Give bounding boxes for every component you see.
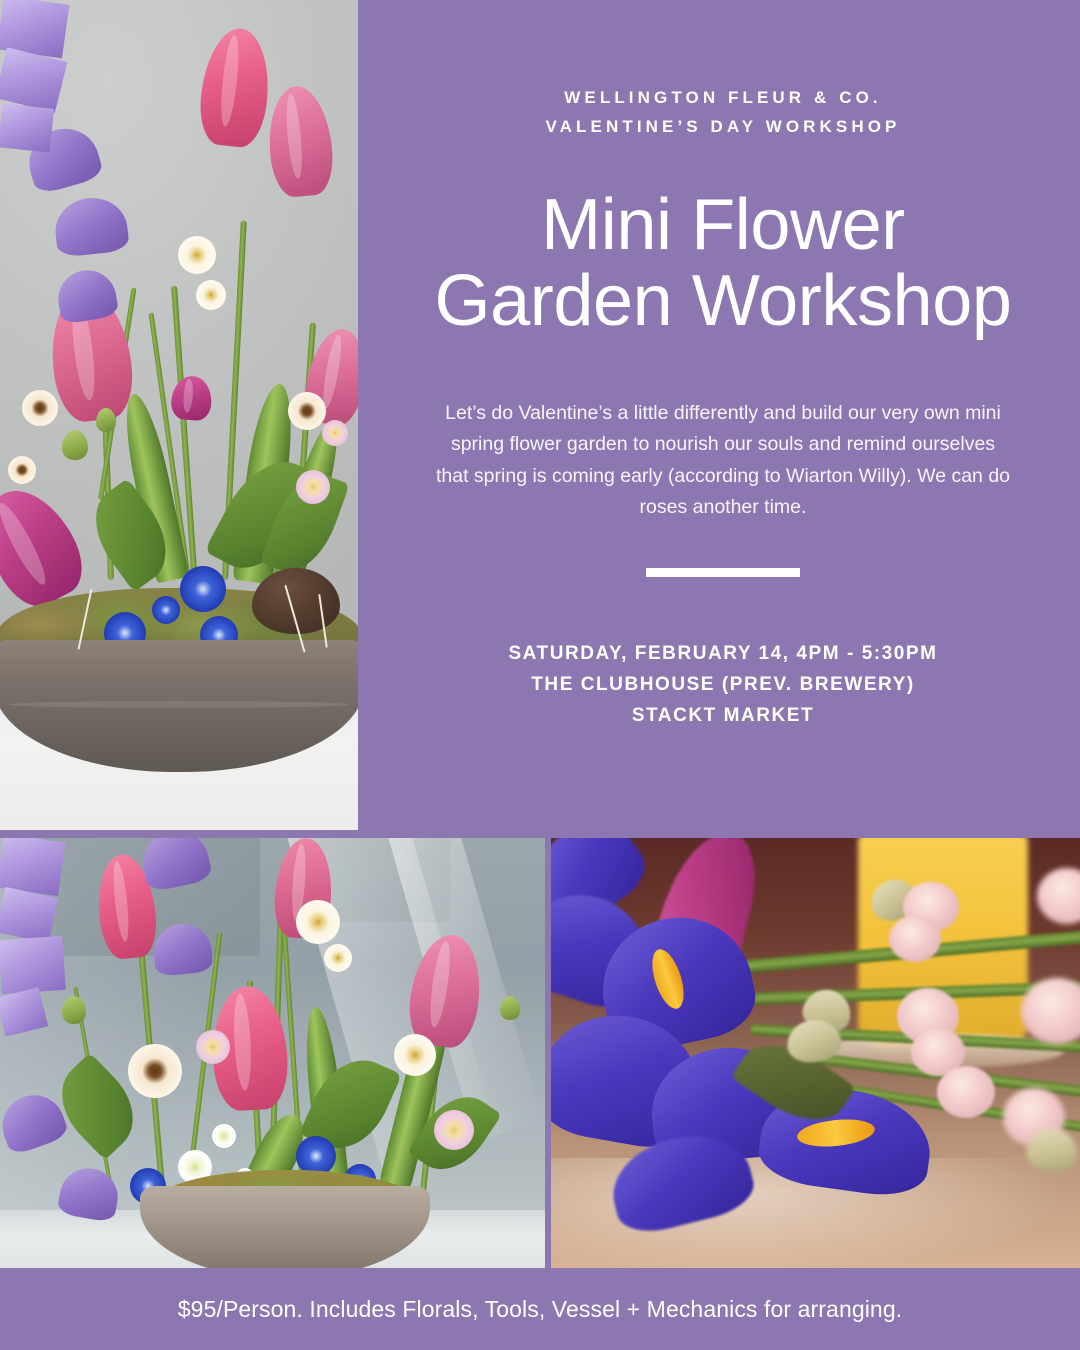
flower-bud (96, 408, 116, 432)
event-location: STACKT MARKET (403, 701, 1043, 732)
cream-anemone-bloom (288, 392, 326, 430)
sweetpea-bloom (0, 936, 66, 994)
eyebrow-line-1: WELLINGTON FLEUR & CO. (564, 88, 881, 107)
footer-price-note: $95/Person. Includes Florals, Tools, Ves… (178, 1296, 902, 1323)
photo-top-left (0, 0, 358, 830)
text-panel: WELLINGTON FLEUR & CO. VALENTINE’S DAY W… (366, 0, 1080, 830)
title-line-1: Mini Flower (383, 187, 1063, 263)
cream-narcissus-bloom (296, 900, 340, 944)
flower-bud (62, 996, 86, 1024)
cream-narcissus-bloom (196, 280, 226, 310)
sweetpea-bloom (0, 103, 54, 152)
iris-closeup-scene (551, 838, 1080, 1268)
flower-bud (500, 996, 520, 1020)
event-venue: THE CLUBHOUSE (PREV. BREWERY) (403, 670, 1043, 701)
cream-anemone-bloom (8, 456, 36, 484)
divider-rule (646, 568, 800, 577)
photo-bottom-left (0, 838, 545, 1268)
cream-anemone-bloom (22, 390, 58, 426)
columbine-bloom (296, 470, 330, 504)
photo-bottom-right (551, 838, 1080, 1268)
pink-stock-bloom (889, 916, 941, 962)
eyebrow-line-2: VALENTINE’S DAY WORKSHOP (545, 117, 900, 136)
event-details: SATURDAY, FEBRUARY 14, 4PM - 5:30PM THE … (403, 639, 1043, 731)
eyebrow-heading: WELLINGTON FLEUR & CO. VALENTINE’S DAY W… (423, 84, 1023, 141)
body-description: Let’s do Valentine’s a little differentl… (433, 398, 1013, 524)
footer-bar: $95/Person. Includes Florals, Tools, Ves… (0, 1268, 1080, 1350)
blue-delphinium-bloom (180, 566, 226, 612)
poster-canvas: WELLINGTON FLEUR & CO. VALENTINE’S DAY W… (0, 0, 1080, 1350)
flower-garden-studio-scene (0, 0, 358, 830)
event-date-time: SATURDAY, FEBRUARY 14, 4PM - 5:30PM (403, 639, 1043, 670)
cream-narcissus-bloom (324, 944, 352, 972)
cream-narcissus-bloom (394, 1034, 436, 1076)
pink-stock-bloom (937, 1066, 995, 1118)
cream-narcissus-bloom (178, 236, 216, 274)
columbine-bloom (434, 1110, 474, 1150)
columbine-bloom (196, 1030, 230, 1064)
flower-bud (62, 430, 88, 460)
blue-delphinium-bloom (152, 596, 180, 624)
white-filler-bloom (212, 1124, 236, 1148)
cream-anemone-bloom (128, 1044, 182, 1098)
concrete-bowl (140, 1186, 430, 1268)
flower-garden-sunlit-scene (0, 838, 545, 1268)
title-line-2: Garden Workshop (383, 263, 1063, 339)
sweetpea-bloom (0, 887, 58, 943)
columbine-bloom (322, 420, 348, 446)
page-title: Mini Flower Garden Workshop (383, 187, 1063, 340)
